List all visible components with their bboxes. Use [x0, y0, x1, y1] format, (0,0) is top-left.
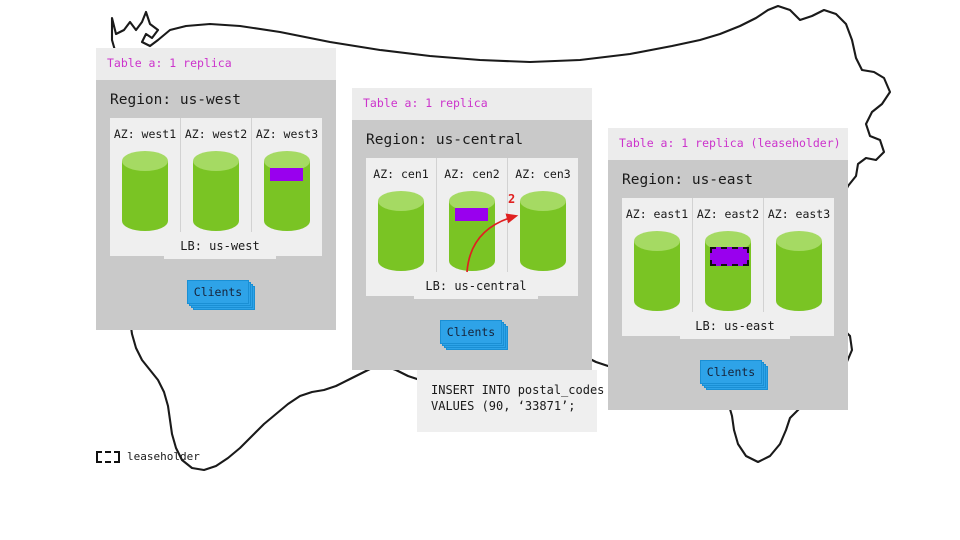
clients-button-us-central[interactable]: Clients — [440, 320, 502, 344]
replica-box-leaseholder-east2 — [710, 247, 749, 266]
lb-label-us-west: LB: us-west — [180, 239, 259, 253]
node-cylinder-west2[interactable] — [191, 149, 241, 233]
region-banner-us-west: Table a: 1 replica — [96, 48, 336, 80]
node-cylinder-west3[interactable] — [262, 149, 312, 233]
region-title-us-east: Region: us-east — [608, 160, 848, 198]
clients-button-us-east[interactable]: Clients — [700, 360, 762, 384]
flow-step-label-2: 2 — [508, 192, 515, 206]
node-cylinder-east3[interactable] — [774, 229, 824, 313]
diagram-canvas: Table a: 1 replica Region: us-west AZ: w… — [0, 0, 960, 540]
node-cylinder-east2[interactable] — [703, 229, 753, 313]
region-title-us-west: Region: us-west — [96, 80, 336, 118]
clients-stack-top[interactable]: Clients — [700, 360, 762, 384]
node-cylinder-east1[interactable] — [632, 229, 682, 313]
region-panel-us-east: Table a: 1 replica (leaseholder) Region:… — [608, 128, 848, 410]
region-panel-us-west: Table a: 1 replica Region: us-west AZ: w… — [96, 48, 336, 330]
legend-leaseholder: leaseholder — [96, 450, 200, 463]
sql-statement-box: INSERT INTO postal_codes VALUES (90, ‘33… — [417, 370, 597, 432]
node-cylinder-cen2[interactable] — [447, 189, 497, 273]
lb-label-us-central: LB: us-central — [425, 279, 526, 293]
az-label-cen2: AZ: cen2 — [437, 167, 507, 181]
lb-box-us-east[interactable]: LB: us-east — [680, 312, 790, 339]
legend-label-leaseholder: leaseholder — [127, 450, 200, 463]
leaseholder-swatch-icon — [96, 451, 120, 463]
clients-label-us-east: Clients — [707, 365, 755, 379]
node-cylinder-cen1[interactable] — [376, 189, 426, 273]
clients-label-us-central: Clients — [447, 325, 495, 339]
node-cylinder-west1[interactable] — [120, 149, 170, 233]
region-banner-us-central: Table a: 1 replica — [352, 88, 592, 120]
clients-label-us-west: Clients — [194, 285, 242, 299]
replica-box-west3 — [270, 168, 303, 181]
replica-box-cen2 — [455, 208, 488, 221]
lb-box-us-central[interactable]: LB: us-central — [414, 272, 538, 299]
clients-stack-top[interactable]: Clients — [440, 320, 502, 344]
az-label-west3: AZ: west3 — [252, 127, 322, 141]
az-label-east3: AZ: east3 — [764, 207, 834, 221]
az-label-cen3: AZ: cen3 — [508, 167, 578, 181]
lb-box-us-west[interactable]: LB: us-west — [164, 232, 276, 259]
lb-label-us-east: LB: us-east — [695, 319, 774, 333]
clients-button-us-west[interactable]: Clients — [187, 280, 249, 304]
region-banner-us-east: Table a: 1 replica (leaseholder) — [608, 128, 848, 160]
az-label-cen1: AZ: cen1 — [366, 167, 436, 181]
region-panel-us-central: Table a: 1 replica Region: us-central AZ… — [352, 88, 592, 370]
clients-stack-top[interactable]: Clients — [187, 280, 249, 304]
node-cylinder-cen3[interactable] — [518, 189, 568, 273]
region-title-us-central: Region: us-central — [352, 120, 592, 158]
az-label-west2: AZ: west2 — [181, 127, 251, 141]
az-label-east2: AZ: east2 — [693, 207, 763, 221]
az-label-east1: AZ: east1 — [622, 207, 692, 221]
az-label-west1: AZ: west1 — [110, 127, 180, 141]
